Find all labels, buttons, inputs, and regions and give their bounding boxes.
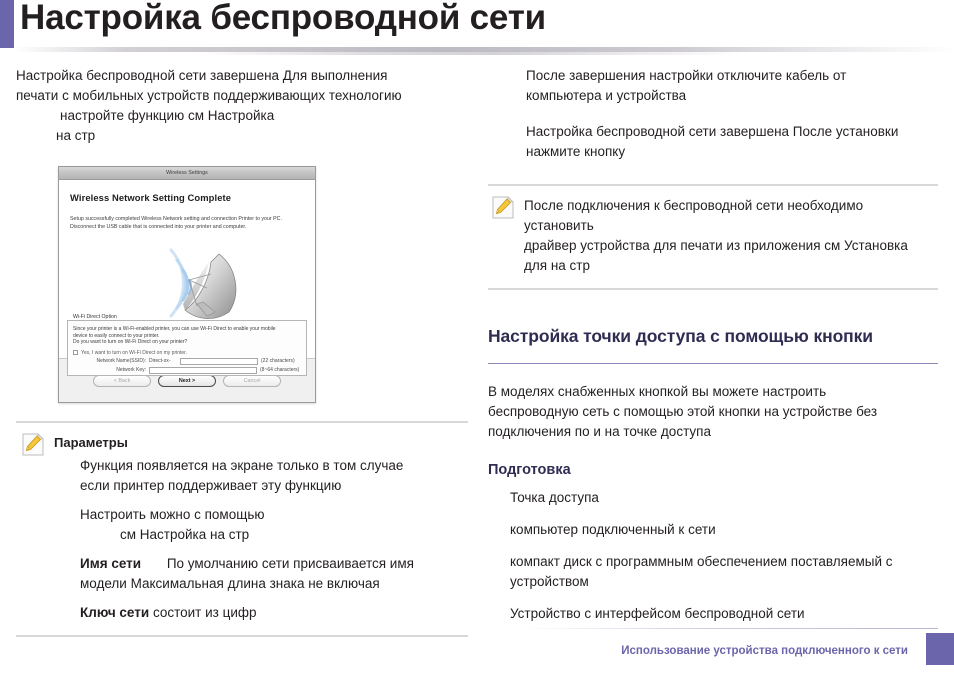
left-intro-line-4: на стр <box>16 126 468 146</box>
note-p1-line-2: если принтер поддерживает эту функцию <box>80 476 462 496</box>
left-intro-line-1: Настройка беспроводной сети завершена Дл… <box>16 66 468 86</box>
note-pencil-icon <box>492 196 514 219</box>
network-key-input[interactable] <box>149 367 257 374</box>
preparation-list: Точка доступа компьютер подключенный к с… <box>488 488 938 624</box>
note-body: Функция появляется на экране только в то… <box>22 456 462 623</box>
title-divider-secondary <box>200 52 740 55</box>
cancel-button[interactable]: Cancel <box>223 375 281 387</box>
next-button[interactable]: Next > <box>158 375 216 387</box>
left-intro-line-3: настройте функцию см Настройка <box>16 106 468 126</box>
list-item: Точка доступа <box>510 488 938 508</box>
wifi-direct-enable-checkbox[interactable]: Yes, I want to turn on Wi-Fi Direct on m… <box>68 346 306 356</box>
dialog-description-line-2: Disconnect the USB cable that is connect… <box>70 223 304 231</box>
back-button[interactable]: < Back <box>93 375 151 387</box>
note-paragraph-4: Ключ сети состоит из цифр <box>80 603 462 623</box>
list-item: компьютер подключенный к сети <box>510 520 938 540</box>
right-p2-line-1: Настройка беспроводной сети завершена По… <box>526 122 938 142</box>
note-p2-line-1: Настроить можно с помощью <box>80 505 462 525</box>
dialog-title-label: Wireless Settings <box>166 170 208 176</box>
right-p2-line-2: нажмите кнопку <box>526 142 938 162</box>
note-driver-line-3: для на стр <box>524 256 934 276</box>
wifi-direct-text-line-1: Since your printer is a Wi-Fi-enabled pr… <box>73 326 301 333</box>
right-paragraph-2: Настройка беспроводной сети завершена По… <box>488 122 938 162</box>
note-p4-rest: состоит из цифр <box>153 605 257 620</box>
list-item: Устройство с интерфейсом беспроводной се… <box>510 604 938 624</box>
section-body-line-1: В моделях снабженных кнопкой вы можете н… <box>488 382 938 402</box>
wifi-direct-text-line-3: Do you want to turn on Wi-Fi Direct on y… <box>73 339 301 346</box>
document-page: Настройка беспроводной сети Настройка бе… <box>0 0 954 675</box>
wireless-settings-dialog-screenshot: Wireless Settings Wireless Network Setti… <box>58 166 316 403</box>
note-header: Параметры <box>22 433 462 456</box>
section-heading-rule <box>488 363 938 364</box>
network-key-row: Network Key: (8~64 characters) <box>68 365 306 374</box>
note-p3-line-2: модели Максимальная длина знака не включ… <box>80 574 462 594</box>
note-driver-line-2: драйвер устройства для печати из приложе… <box>524 236 934 256</box>
wifi-direct-checkbox-label: Yes, I want to turn on Wi-Fi Direct on m… <box>81 350 187 356</box>
note-p4-bold-label: Ключ сети <box>80 605 149 620</box>
checkbox-box-icon[interactable] <box>73 350 78 355</box>
right-p1-line-2: компьютера и устройства <box>526 86 938 106</box>
note-paragraph-3: Имя сети По умолчанию сети присваивается… <box>80 554 462 594</box>
network-key-label: Network Key: <box>68 367 146 373</box>
note-paragraph-2: Настроить можно с помощью см Настройка н… <box>80 505 462 545</box>
right-column: После завершения настройки отключите каб… <box>488 66 938 636</box>
network-key-hint: (8~64 characters) <box>260 367 299 373</box>
dialog-description: Setup successfully completed Wireless Ne… <box>70 215 304 231</box>
note-p3-bold-label: Имя сети <box>80 556 141 571</box>
note-p2-line-2: см Настройка на стр <box>80 525 462 545</box>
left-intro-line-2: печати с мобильных устройств поддерживаю… <box>16 86 468 106</box>
section-body-line-3: подключения по и на точке доступа <box>488 422 938 442</box>
note-driver-line-1: После подключения к беспроводной сети не… <box>524 196 934 236</box>
section-body: В моделях снабженных кнопкой вы можете н… <box>488 382 938 442</box>
list-item: компакт диск с программным обеспечением … <box>510 552 938 592</box>
section-body-line-2: беспроводную сеть с помощью этой кнопки … <box>488 402 938 422</box>
note-box-driver-install: После подключения к беспроводной сети не… <box>488 184 938 290</box>
ssid-row: Network Name(SSID): Direct-xx- (22 chara… <box>68 356 306 365</box>
note-box-parameters: Параметры Функция появляется на экране т… <box>16 421 468 637</box>
satellite-dish-icon <box>111 238 271 330</box>
left-column: Настройка беспроводной сети завершена Дл… <box>16 66 468 637</box>
wifi-direct-option-group: Wi-Fi Direct Option Since your printer i… <box>67 320 307 376</box>
ssid-hint: (22 characters) <box>261 358 295 364</box>
page-title: Настройка беспроводной сети <box>20 0 546 38</box>
dialog-heading: Wireless Network Setting Complete <box>70 192 304 203</box>
wifi-direct-description: Since your printer is a Wi-Fi-enabled pr… <box>68 321 306 346</box>
wifi-direct-text-line-2: device to easily connect to your printer… <box>73 333 301 340</box>
dialog-titlebar: Wireless Settings <box>59 167 315 180</box>
note-p3-line-1: По умолчанию сети присваивается имя <box>167 556 414 571</box>
ssid-input[interactable] <box>180 358 258 365</box>
ssid-prefix: Direct-xx- <box>149 358 177 364</box>
note-title: Параметры <box>54 433 128 450</box>
wifi-direct-legend: Wi-Fi Direct Option <box>71 314 119 320</box>
note-driver-text: После подключения к беспроводной сети не… <box>524 196 934 276</box>
footer-text: Использование устройства подключенного к… <box>621 645 908 657</box>
note-p3-first-line: Имя сети По умолчанию сети присваивается… <box>80 554 462 574</box>
right-p1-line-1: После завершения настройки отключите каб… <box>526 66 938 86</box>
ssid-label: Network Name(SSID): <box>68 358 146 364</box>
footer-divider <box>16 628 938 629</box>
note-p1-line-1: Функция появляется на экране только в то… <box>80 456 462 476</box>
footer-page-marker <box>926 633 954 665</box>
dialog-description-line-1: Setup successfully completed Wireless Ne… <box>70 215 304 223</box>
note-pencil-icon <box>22 433 44 456</box>
title-accent-bar <box>0 0 14 48</box>
dialog-body: Wireless Network Setting Complete Setup … <box>59 180 315 358</box>
preparation-heading: Подготовка <box>488 462 938 478</box>
right-paragraph-1: После завершения настройки отключите каб… <box>488 66 938 106</box>
section-heading: Настройка точки доступа с помощью кнопки <box>488 326 938 347</box>
note-paragraph-1: Функция появляется на экране только в то… <box>80 456 462 496</box>
note-driver-header: После подключения к беспроводной сети не… <box>492 196 934 276</box>
